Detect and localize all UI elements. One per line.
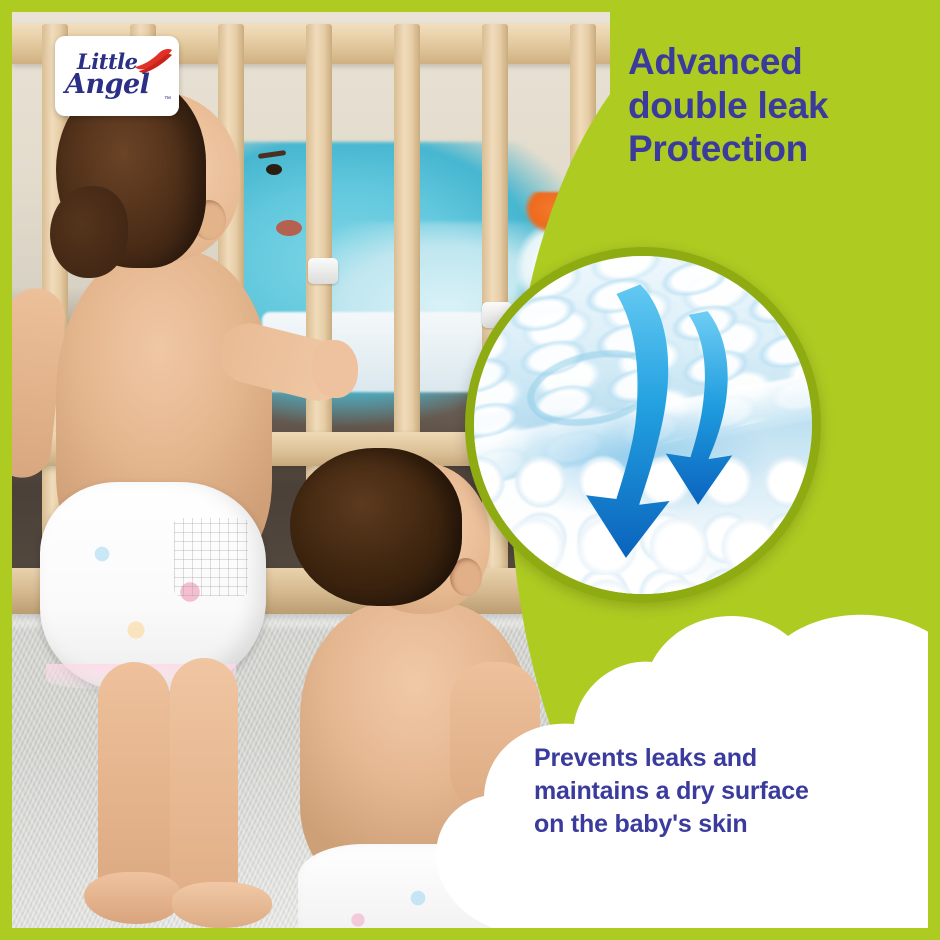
feature-circle-inset xyxy=(465,247,821,603)
absorption-arrow-primary xyxy=(586,284,670,557)
little-angel-logo-badge[interactable]: Little Angel ™ xyxy=(55,36,179,116)
logo-inner: Little Angel ™ xyxy=(63,45,171,107)
standing-baby-right-leg xyxy=(170,658,238,920)
headline-line-1: Advanced xyxy=(628,40,918,84)
standing-baby-eyebrow xyxy=(258,150,286,159)
standing-baby-diaper xyxy=(40,482,266,692)
logo-trademark: ™ xyxy=(164,96,171,103)
headline-line-2: double leak xyxy=(628,84,918,128)
standing-baby-mouth xyxy=(276,220,302,236)
absorption-arrows xyxy=(474,256,812,594)
callout-text: Prevents leaks and maintains a dry surfa… xyxy=(534,742,934,841)
callout-line-1: Prevents leaks and xyxy=(534,742,934,775)
callout-cloud: Prevents leaks and maintains a dry surfa… xyxy=(430,600,940,940)
absorption-arrow-secondary xyxy=(666,311,732,505)
standing-baby-eye xyxy=(266,164,282,175)
headline-line-3: Protection xyxy=(628,127,918,171)
advertisement-canvas: Advanced double leak Protection xyxy=(0,0,940,940)
diaper-surface-closeup xyxy=(474,256,812,594)
page-title: Advanced double leak Protection xyxy=(628,40,918,171)
wing-icon xyxy=(133,47,173,73)
standing-baby-right-foot xyxy=(172,882,272,928)
standing-baby-left-foot xyxy=(84,872,180,924)
logo-text-angel: Angel xyxy=(65,69,149,100)
callout-line-2: maintains a dry surface xyxy=(534,775,934,808)
standing-baby-right-hand xyxy=(312,340,358,398)
callout-line-3: on the baby's skin xyxy=(534,808,934,841)
sitting-baby-hair xyxy=(290,448,462,606)
